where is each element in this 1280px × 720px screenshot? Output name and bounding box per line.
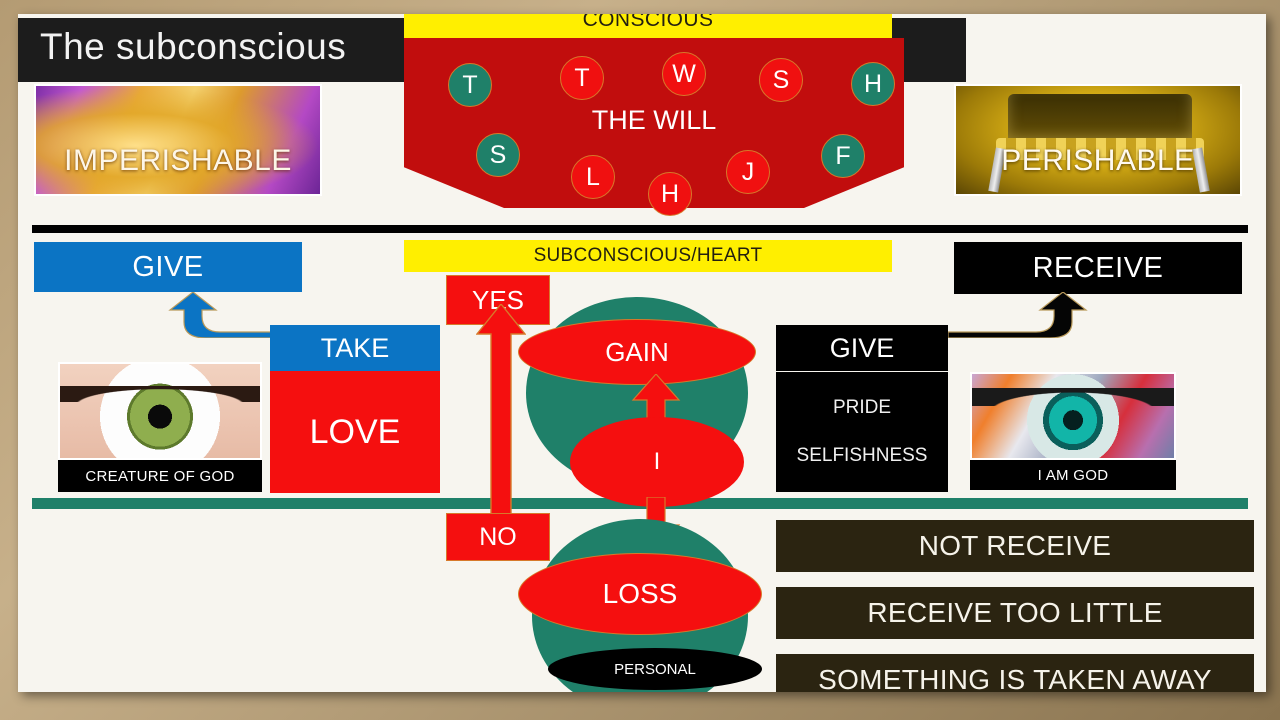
i-ellipse[interactable]: I (570, 417, 744, 507)
black-divider (32, 225, 1248, 233)
outcome-bar-not-receive[interactable]: NOT RECEIVE (776, 520, 1254, 572)
slide-canvas: The subconscious CONSCIOUS THE WILL T T … (18, 14, 1266, 692)
will-letter-h1[interactable]: H (851, 62, 895, 106)
imperishable-image: IMPERISHABLE (34, 84, 322, 196)
i-am-god-caption: I AM GOD (970, 460, 1176, 490)
will-letter-t2[interactable]: T (560, 56, 604, 100)
will-letter-s2[interactable]: S (476, 133, 520, 177)
will-letter-h2[interactable]: H (648, 172, 692, 216)
give-bar-right[interactable]: GIVE (776, 325, 948, 371)
eye-image-left (58, 362, 262, 460)
give-bar-left[interactable]: GIVE (34, 242, 302, 292)
no-box[interactable]: NO (446, 513, 550, 561)
receive-curved-arrow-icon (948, 292, 1098, 338)
conscious-label: CONSCIOUS (404, 14, 892, 38)
creature-of-god-caption: CREATURE OF GOD (58, 460, 262, 492)
eyelash-icon (60, 386, 260, 402)
traits-box: PRIDE SELFISHNESS (776, 372, 948, 492)
trait-pride: PRIDE (833, 397, 891, 419)
outcome-bar-something-taken-away[interactable]: SOMETHING IS TAKEN AWAY (776, 654, 1254, 692)
will-letter-l[interactable]: L (571, 155, 615, 199)
eyelash-icon-right (972, 388, 1174, 406)
will-letter-w[interactable]: W (662, 52, 706, 96)
love-bar[interactable]: LOVE (270, 371, 440, 493)
perishable-caption: PERISHABLE (956, 144, 1240, 178)
imperishable-caption: IMPERISHABLE (36, 144, 320, 178)
will-letter-j[interactable]: J (726, 150, 770, 194)
up-arrow-icon (476, 304, 526, 514)
will-letter-t1[interactable]: T (448, 63, 492, 107)
take-bar[interactable]: TAKE (270, 325, 440, 371)
personal-ellipse[interactable]: PERSONAL (548, 648, 762, 690)
loss-ellipse[interactable]: LOSS (518, 553, 762, 635)
will-label: THE WILL (404, 100, 904, 140)
trait-selfishness: SELFISHNESS (797, 445, 928, 467)
will-letter-f[interactable]: F (821, 134, 865, 178)
subconscious-heart-label: SUBCONSCIOUS/HEART (404, 240, 892, 272)
will-letter-s1[interactable]: S (759, 58, 803, 102)
outcome-bar-receive-too-little[interactable]: RECEIVE TOO LITTLE (776, 587, 1254, 639)
eye-image-right (970, 372, 1176, 460)
perishable-image: PERISHABLE (954, 84, 1242, 196)
receive-bar-right[interactable]: RECEIVE (954, 242, 1242, 294)
